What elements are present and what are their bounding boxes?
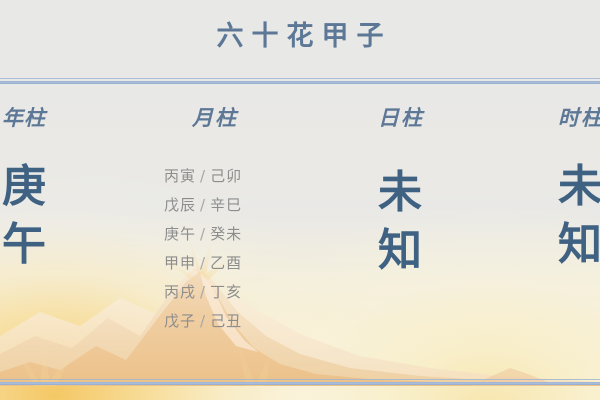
page-title: 六十花甲子 xyxy=(0,20,600,54)
pillar-value-year-stem: 庚 xyxy=(2,158,46,216)
pair-left: 戊辰 xyxy=(164,196,196,214)
pillar-header-month: 月柱 xyxy=(192,104,242,132)
divider-bottom-thick xyxy=(0,382,600,385)
divider-top xyxy=(0,78,600,84)
month-pair-list: 丙寅/己卯 戊辰/辛巳 庚午/癸未 甲申/乙酉 丙戌/丁亥 戊子/己丑 xyxy=(164,162,242,336)
list-item: 丙寅/己卯 xyxy=(164,162,242,191)
pillar-value-day-branch: 知 xyxy=(378,222,424,280)
pillar-column-hour: 时柱 未 知 xyxy=(558,104,600,274)
pair-separator: / xyxy=(196,225,210,243)
pair-left: 庚午 xyxy=(164,225,196,243)
pillar-value-hour-stem: 未 xyxy=(558,158,600,216)
mountain-illustration xyxy=(0,186,600,386)
pair-separator: / xyxy=(196,254,210,272)
pillar-header-year: 年柱 xyxy=(2,104,46,132)
pillar-column-day: 日柱 未 知 xyxy=(378,104,424,280)
list-item: 庚午/癸未 xyxy=(164,220,242,249)
mountain-svg xyxy=(0,186,600,386)
pillar-value-day-stem: 未 xyxy=(378,164,424,222)
pillar-value-hour-branch: 知 xyxy=(558,216,600,274)
divider-top-thin xyxy=(0,78,600,79)
divider-top-thick xyxy=(0,81,600,84)
pair-right: 己卯 xyxy=(210,167,242,185)
pillar-column-month: 月柱 丙寅/己卯 戊辰/辛巳 庚午/癸未 甲申/乙酉 丙戌/丁亥 戊子/己丑 xyxy=(192,104,242,336)
poster-canvas: 六十花甲子 年柱 庚 午 月柱 丙寅/己卯 戊辰/辛巳 庚午/癸未 甲申/乙酉 … xyxy=(0,0,600,400)
pair-right: 己丑 xyxy=(210,312,242,330)
pillar-value-year-branch: 午 xyxy=(2,216,46,274)
pair-separator: / xyxy=(196,312,210,330)
list-item: 戊辰/辛巳 xyxy=(164,191,242,220)
pair-left: 甲申 xyxy=(164,254,196,272)
pair-left: 戊子 xyxy=(164,312,196,330)
list-item: 戊子/己丑 xyxy=(164,307,242,336)
pillar-column-year: 年柱 庚 午 xyxy=(2,104,46,274)
list-item: 丙戌/丁亥 xyxy=(164,278,242,307)
pair-separator: / xyxy=(196,196,210,214)
list-item: 甲申/乙酉 xyxy=(164,249,242,278)
divider-bottom xyxy=(0,379,600,385)
pillar-header-day: 日柱 xyxy=(378,104,424,132)
pair-separator: / xyxy=(196,167,210,185)
pair-right: 丁亥 xyxy=(210,283,242,301)
pair-left: 丙戌 xyxy=(164,283,196,301)
pair-right: 乙酉 xyxy=(210,254,242,272)
pair-right: 癸未 xyxy=(210,225,242,243)
pillar-value-year: 庚 午 xyxy=(2,158,46,274)
pair-left: 丙寅 xyxy=(164,167,196,185)
pillar-value-day: 未 知 xyxy=(378,164,424,280)
pair-right: 辛巳 xyxy=(210,196,242,214)
pair-separator: / xyxy=(196,283,210,301)
divider-bottom-thin xyxy=(0,379,600,380)
pillar-value-hour: 未 知 xyxy=(558,158,600,274)
pillar-header-hour: 时柱 xyxy=(558,104,600,132)
